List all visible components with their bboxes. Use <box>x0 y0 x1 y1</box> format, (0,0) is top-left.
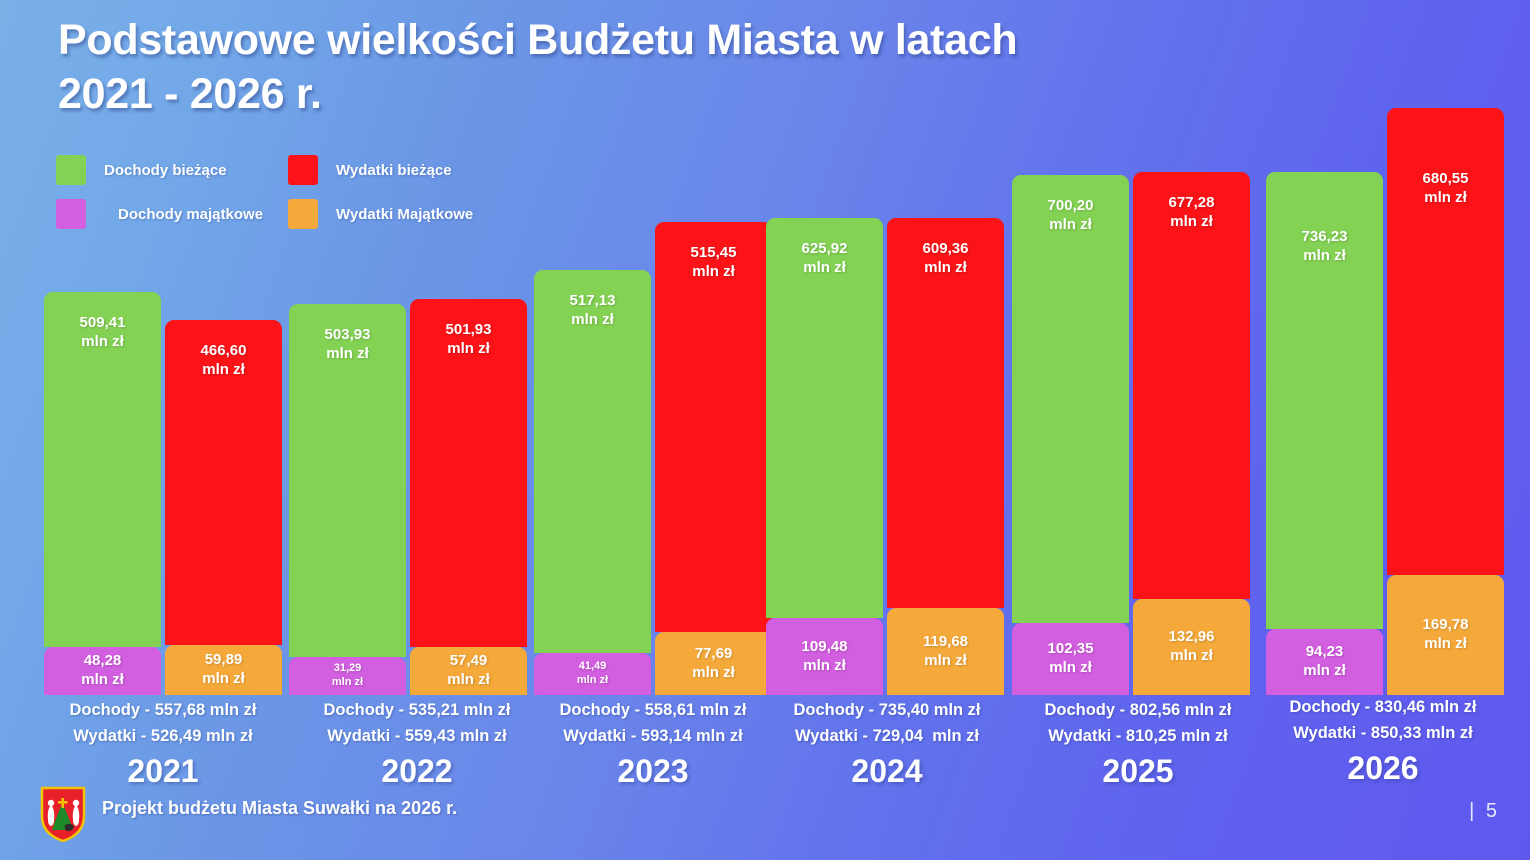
category-year-label: 2023 <box>528 753 778 790</box>
category-year-label: 2021 <box>38 753 288 790</box>
bar-unit-label: mln zł <box>1012 216 1129 235</box>
category-year-label: 2024 <box>762 753 1012 790</box>
bar-unit-label: mln zł <box>577 674 608 688</box>
bar-unit-label: mln zł <box>692 664 735 683</box>
bar-value-label: 94,23 <box>1306 643 1344 662</box>
category-year-label: 2025 <box>1013 753 1263 790</box>
bar-unit-label: mln zł <box>1170 647 1213 666</box>
bar-value-label: 169,78 <box>1423 616 1469 635</box>
caption-expense: Wydatki - 850,33 mln zł <box>1258 721 1508 747</box>
bar-segment-dochody-biezace: 517,13 mln zł <box>534 270 651 653</box>
bar-value-label: 609,36 <box>887 240 1004 259</box>
bar-wydatki-2021[interactable]: 466,60 mln zł 59,89 mln zł <box>165 320 282 695</box>
bar-value-label: 48,28 <box>84 652 122 671</box>
bar-value-label: 677,28 <box>1133 194 1250 213</box>
bar-unit-label: mln zł <box>447 671 490 690</box>
bar-segment-dochody-biezace: 700,20 mln zł <box>1012 175 1129 623</box>
bar-wydatki-2023[interactable]: 515,45 mln zł 77,69 mln zł <box>655 222 772 695</box>
caption-income: Dochody - 830,46 mln zł <box>1258 695 1508 721</box>
caption-income: Dochody - 558,61 mln zł <box>528 698 778 724</box>
bar-chart: 509,41 mln zł 48,28 mln zł 466,60 mln zł <box>0 0 1530 695</box>
bar-unit-label: mln zł <box>165 361 282 380</box>
category-caption-2021: Dochody - 557,68 mln zł Wydatki - 526,49… <box>38 698 288 790</box>
category-caption-2023: Dochody - 558,61 mln zł Wydatki - 593,14… <box>528 698 778 790</box>
footer-label: Projekt budżetu Miasta Suwałki na 2026 r… <box>102 798 457 819</box>
category-year-label: 2022 <box>292 753 542 790</box>
bar-value-label: 102,35 <box>1048 640 1094 659</box>
bar-segment-dochody-majatkowe: 109,48 mln zł <box>766 618 883 695</box>
bar-segment-dochody-biezace: 736,23 mln zł <box>1266 172 1383 629</box>
bar-value-label: 509,41 <box>44 314 161 333</box>
bar-segment-wydatki-majatkowe: 169,78 mln zł <box>1387 575 1504 695</box>
bar-value-label: 517,13 <box>534 292 651 311</box>
bar-value-label: 119,68 <box>923 633 968 652</box>
bar-unit-label: mln zł <box>887 259 1004 278</box>
bar-dochody-2024[interactable]: 625,92 mln zł 109,48 mln zł <box>766 218 883 695</box>
bar-segment-dochody-biezace: 509,41 mln zł <box>44 292 161 647</box>
bar-segment-wydatki-biezace: 680,55 mln zł <box>1387 108 1504 575</box>
bar-unit-label: mln zł <box>534 311 651 330</box>
bar-dochody-2022[interactable]: 503,93 mln zł 31,29 mln zł <box>289 304 406 695</box>
bar-value-label: 77,69 <box>695 645 733 664</box>
caption-expense: Wydatki - 810,25 mln zł <box>1013 724 1263 750</box>
bar-unit-label: mln zł <box>1133 213 1250 232</box>
slide: Podstawowe wielkości Budżetu Miasta w la… <box>0 0 1530 860</box>
bar-segment-wydatki-biezace: 515,45 mln zł <box>655 222 772 632</box>
bar-segment-wydatki-majatkowe: 77,69 mln zł <box>655 632 772 695</box>
bar-dochody-2026[interactable]: 736,23 mln zł 94,23 mln zł <box>1266 172 1383 695</box>
caption-expense: Wydatki - 526,49 mln zł <box>38 724 288 750</box>
bar-value-label: 132,96 <box>1169 628 1215 647</box>
bar-wydatki-2025[interactable]: 677,28 mln zł 132,96 mln zł <box>1133 172 1250 695</box>
bar-segment-wydatki-majatkowe: 57,49 mln zł <box>410 647 527 695</box>
bar-value-label: 501,93 <box>410 321 527 340</box>
bar-unit-label: mln zł <box>1266 247 1383 266</box>
caption-expense: Wydatki - 729,04 mln zł <box>762 724 1012 750</box>
bar-segment-dochody-majatkowe: 94,23 mln zł <box>1266 629 1383 695</box>
bar-wydatki-2026[interactable]: 680,55 mln zł 169,78 mln zł <box>1387 108 1504 695</box>
category-caption-2026: Dochody - 830,46 mln zł Wydatki - 850,33… <box>1258 695 1508 787</box>
bar-unit-label: mln zł <box>410 340 527 359</box>
caption-income: Dochody - 557,68 mln zł <box>38 698 288 724</box>
bar-segment-wydatki-biezace: 466,60 mln zł <box>165 320 282 645</box>
bar-segment-wydatki-biezace: 609,36 mln zł <box>887 218 1004 608</box>
bar-segment-dochody-majatkowe: 48,28 mln zł <box>44 647 161 695</box>
bar-wydatki-2024[interactable]: 609,36 mln zł 119,68 mln zł <box>887 218 1004 695</box>
bar-value-label: 680,55 <box>1387 170 1504 189</box>
bar-segment-dochody-biezace: 503,93 mln zł <box>289 304 406 657</box>
page-number: | 5 <box>1469 800 1500 823</box>
bar-segment-wydatki-biezace: 677,28 mln zł <box>1133 172 1250 599</box>
category-caption-2025: Dochody - 802,56 mln zł Wydatki - 810,25… <box>1013 698 1263 790</box>
bar-value-label: 736,23 <box>1266 228 1383 247</box>
bar-segment-wydatki-majatkowe: 119,68 mln zł <box>887 608 1004 695</box>
bar-value-label: 700,20 <box>1012 197 1129 216</box>
bar-unit-label: mln zł <box>289 345 406 364</box>
bar-value-label: 41,49 <box>579 660 607 674</box>
bar-value-label: 515,45 <box>655 244 772 263</box>
bar-segment-dochody-biezace: 625,92 mln zł <box>766 218 883 618</box>
bar-segment-dochody-majatkowe: 41,49 mln zł <box>534 653 651 695</box>
bar-dochody-2025[interactable]: 700,20 mln zł 102,35 mln zł <box>1012 175 1129 695</box>
bar-unit-label: mln zł <box>655 263 772 282</box>
caption-income: Dochody - 735,40 mln zł <box>762 698 1012 724</box>
category-year-label: 2026 <box>1258 750 1508 787</box>
bar-segment-wydatki-majatkowe: 132,96 mln zł <box>1133 599 1250 695</box>
bar-unit-label: mln zł <box>44 333 161 352</box>
caption-expense: Wydatki - 593,14 mln zł <box>528 724 778 750</box>
bar-unit-label: mln zł <box>766 259 883 278</box>
bar-unit-label: mln zł <box>1424 635 1467 654</box>
bar-unit-label: mln zł <box>81 671 124 690</box>
bar-wydatki-2022[interactable]: 501,93 mln zł 57,49 mln zł <box>410 299 527 695</box>
bar-unit-label: mln zł <box>803 657 846 676</box>
caption-expense: Wydatki - 559,43 mln zł <box>292 724 542 750</box>
bar-unit-label: mln zł <box>332 676 363 690</box>
bar-segment-dochody-majatkowe: 31,29 mln zł <box>289 657 406 695</box>
bar-segment-wydatki-majatkowe: 59,89 mln zł <box>165 645 282 695</box>
bar-value-label: 57,49 <box>450 652 488 671</box>
category-caption-2024: Dochody - 735,40 mln zł Wydatki - 729,04… <box>762 698 1012 790</box>
caption-income: Dochody - 535,21 mln zł <box>292 698 542 724</box>
caption-income: Dochody - 802,56 mln zł <box>1013 698 1263 724</box>
herb-suwalki-icon <box>40 786 86 842</box>
bar-unit-label: mln zł <box>1049 659 1092 678</box>
bar-value-label: 31,29 <box>334 662 362 676</box>
bar-unit-label: mln zł <box>924 652 967 671</box>
bar-dochody-2023[interactable]: 517,13 mln zł 41,49 mln zł <box>534 270 651 695</box>
bar-segment-wydatki-biezace: 501,93 mln zł <box>410 299 527 647</box>
bar-value-label: 466,60 <box>165 342 282 361</box>
bar-value-label: 503,93 <box>289 326 406 345</box>
bar-value-label: 625,92 <box>766 240 883 259</box>
bar-dochody-2021[interactable]: 509,41 mln zł 48,28 mln zł <box>44 292 161 695</box>
bar-value-label: 109,48 <box>802 638 848 657</box>
category-caption-2022: Dochody - 535,21 mln zł Wydatki - 559,43… <box>292 698 542 790</box>
bar-unit-label: mln zł <box>1303 662 1346 681</box>
bar-value-label: 59,89 <box>205 651 243 670</box>
bar-unit-label: mln zł <box>202 670 245 689</box>
bar-unit-label: mln zł <box>1387 189 1504 208</box>
bar-segment-dochody-majatkowe: 102,35 mln zł <box>1012 623 1129 695</box>
